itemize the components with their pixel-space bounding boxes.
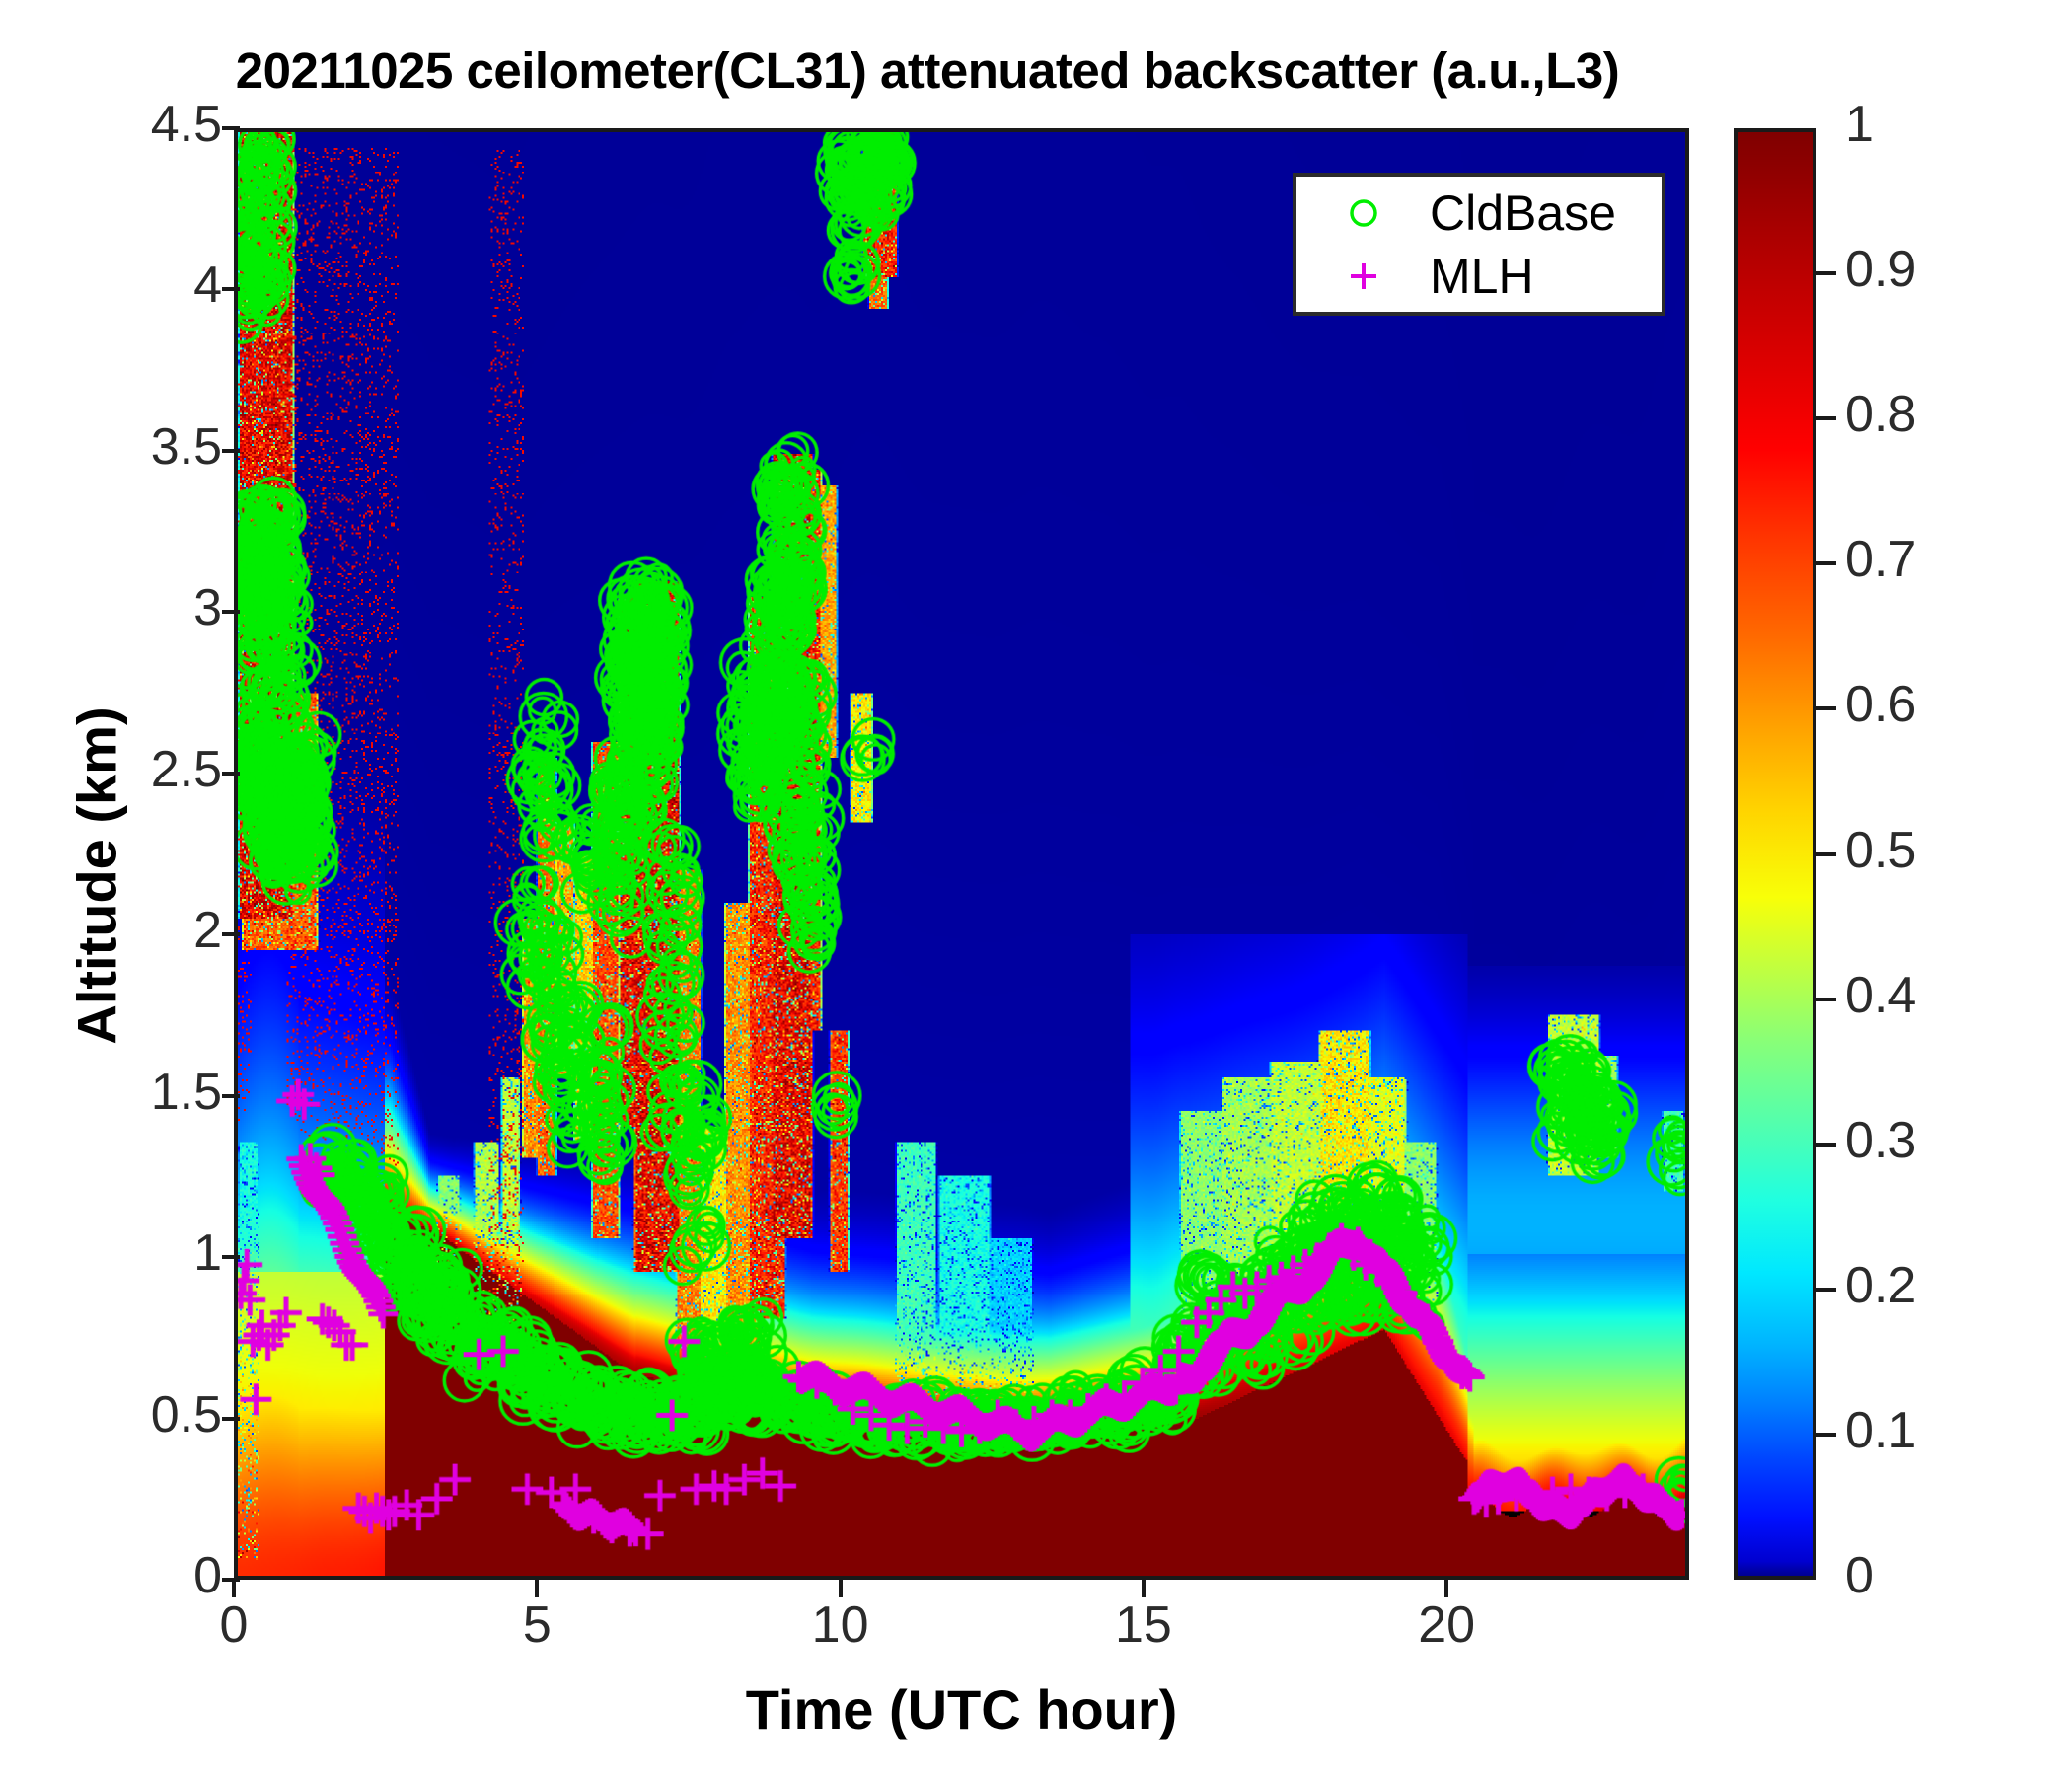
cldbase-circle-icon <box>1296 183 1430 244</box>
y-tick <box>222 772 240 776</box>
y-tick-label: 2 <box>64 901 222 960</box>
colorbar-tick-label: 1 <box>1845 95 1874 154</box>
y-tick-label: 1.5 <box>64 1063 222 1122</box>
colorbar-tick <box>1816 1288 1836 1292</box>
colorbar-tick-label: 0.7 <box>1845 530 1916 589</box>
y-tick <box>222 1094 240 1098</box>
y-tick <box>222 1417 240 1421</box>
y-tick <box>222 1255 240 1259</box>
colorbar-tick-label: 0.8 <box>1845 385 1916 444</box>
colorbar-tick-label: 0.1 <box>1845 1401 1916 1460</box>
x-tick-label: 15 <box>1065 1595 1222 1655</box>
x-tick-label: 10 <box>762 1595 920 1655</box>
colorbar-tick <box>1816 706 1836 710</box>
x-tick-label: 5 <box>458 1595 616 1655</box>
x-tick-label: 20 <box>1368 1595 1525 1655</box>
y-tick-label: 3.5 <box>64 417 222 477</box>
y-tick <box>222 126 240 130</box>
y-tick-label: 4 <box>64 256 222 315</box>
legend-entry-mlh[interactable]: MLH <box>1296 246 1662 307</box>
y-tick-label: 3 <box>64 578 222 637</box>
x-axis-title: Time (UTC hour) <box>234 1677 1689 1741</box>
y-tick-label: 0.5 <box>64 1385 222 1444</box>
y-tick-label: 4.5 <box>64 95 222 154</box>
colorbar-tick <box>1816 1433 1836 1437</box>
colorbar-tick <box>1816 416 1836 420</box>
page-title: 20211025 ceilometer(CL31) attenuated bac… <box>0 41 1855 100</box>
y-tick <box>222 610 240 614</box>
colorbar-tick-label: 0.3 <box>1845 1111 1916 1170</box>
colorbar-tick-label: 0.2 <box>1845 1256 1916 1315</box>
legend-label-mlh: MLH <box>1430 252 1534 301</box>
legend-entry-cldbase[interactable]: CldBase <box>1296 183 1662 244</box>
mlh-plus-icon <box>1296 246 1430 307</box>
plot-area[interactable] <box>234 128 1689 1580</box>
colorbar-tick <box>1816 271 1836 275</box>
x-tick-label: 0 <box>155 1595 313 1655</box>
y-tick <box>222 932 240 936</box>
colorbar-tick-label: 0 <box>1845 1546 1874 1605</box>
colorbar-tick <box>1816 998 1836 1001</box>
legend[interactable]: CldBase MLH <box>1293 173 1665 316</box>
colorbar-tick-label: 0.6 <box>1845 675 1916 734</box>
y-tick <box>222 287 240 291</box>
colorbar[interactable] <box>1734 128 1816 1580</box>
y-tick-label: 1 <box>64 1223 222 1283</box>
colorbar-tick <box>1816 852 1836 856</box>
colorbar-tick-label: 0.5 <box>1845 821 1916 880</box>
figure-root: 20211025 ceilometer(CL31) attenuated bac… <box>0 0 2072 1776</box>
legend-label-cldbase: CldBase <box>1430 188 1616 238</box>
scatter-overlay <box>238 132 1685 1576</box>
colorbar-tick <box>1816 1143 1836 1147</box>
colorbar-tick-label: 0.4 <box>1845 966 1916 1025</box>
y-tick <box>222 449 240 453</box>
y-tick <box>222 1578 240 1582</box>
y-tick-label: 2.5 <box>64 740 222 799</box>
colorbar-tick-label: 0.9 <box>1845 240 1916 299</box>
colorbar-tick <box>1816 561 1836 565</box>
